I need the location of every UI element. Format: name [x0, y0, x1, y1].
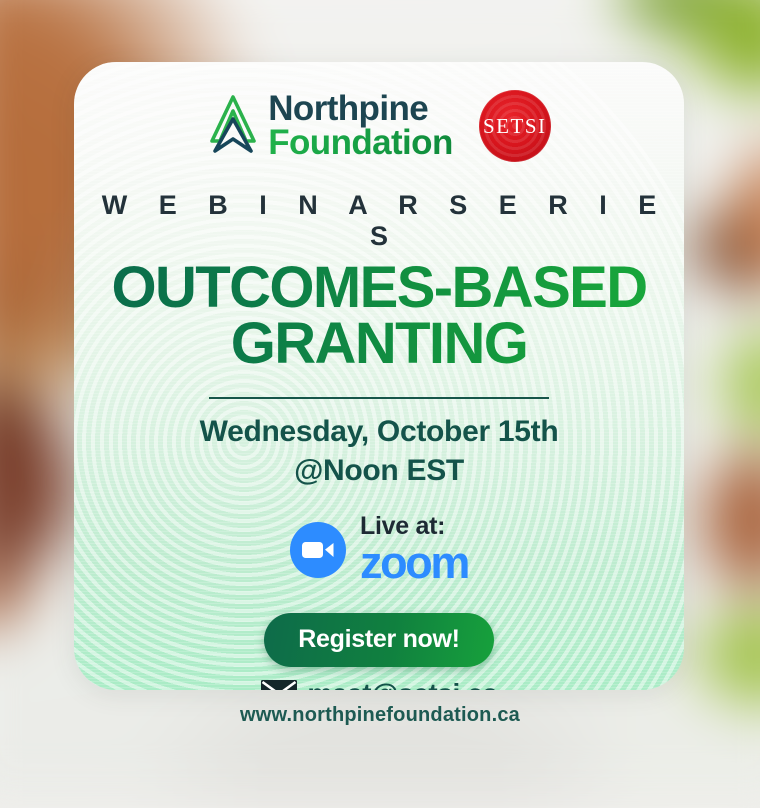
northpine-line1: Northpine: [268, 92, 453, 126]
page-title: OUTCOMES-BASED GRANTING: [74, 260, 684, 371]
event-datetime: Wednesday, October 15th @Noon EST: [74, 413, 684, 490]
headline-line2: GRANTING: [231, 311, 528, 376]
pine-tree-compass-icon: [207, 93, 259, 160]
promo-card: Northpine Foundation SETSI W E B I N A R…: [74, 62, 684, 690]
platform-row[interactable]: Live at: zoom: [74, 514, 684, 585]
event-date: Wednesday, October 15th: [200, 415, 559, 448]
platform-text: Live at: zoom: [360, 514, 468, 585]
envelope-icon: [260, 679, 298, 690]
footer-website-url[interactable]: www.northpinefoundation.ca: [0, 704, 760, 727]
setsi-label: SETSI: [483, 114, 547, 139]
register-button[interactable]: Register now!: [264, 613, 493, 667]
zoom-wordmark: zoom: [360, 540, 468, 585]
northpine-line2: Foundation: [268, 126, 453, 160]
logo-row: Northpine Foundation SETSI: [74, 62, 684, 162]
northpine-logo[interactable]: Northpine Foundation: [207, 92, 453, 161]
video-camera-icon: [290, 522, 346, 578]
contact-email[interactable]: maat@setsi.ca: [307, 678, 497, 690]
setsi-logo[interactable]: SETSI: [479, 90, 551, 162]
live-at-label: Live at:: [360, 514, 468, 539]
event-time: @Noon EST: [294, 454, 464, 487]
divider-rule: [209, 397, 549, 399]
eyebrow-webinar-series: W E B I N A R S E R I E S: [74, 190, 684, 252]
northpine-wordmark: Northpine Foundation: [268, 92, 453, 161]
email-row[interactable]: maat@setsi.ca: [74, 678, 684, 690]
